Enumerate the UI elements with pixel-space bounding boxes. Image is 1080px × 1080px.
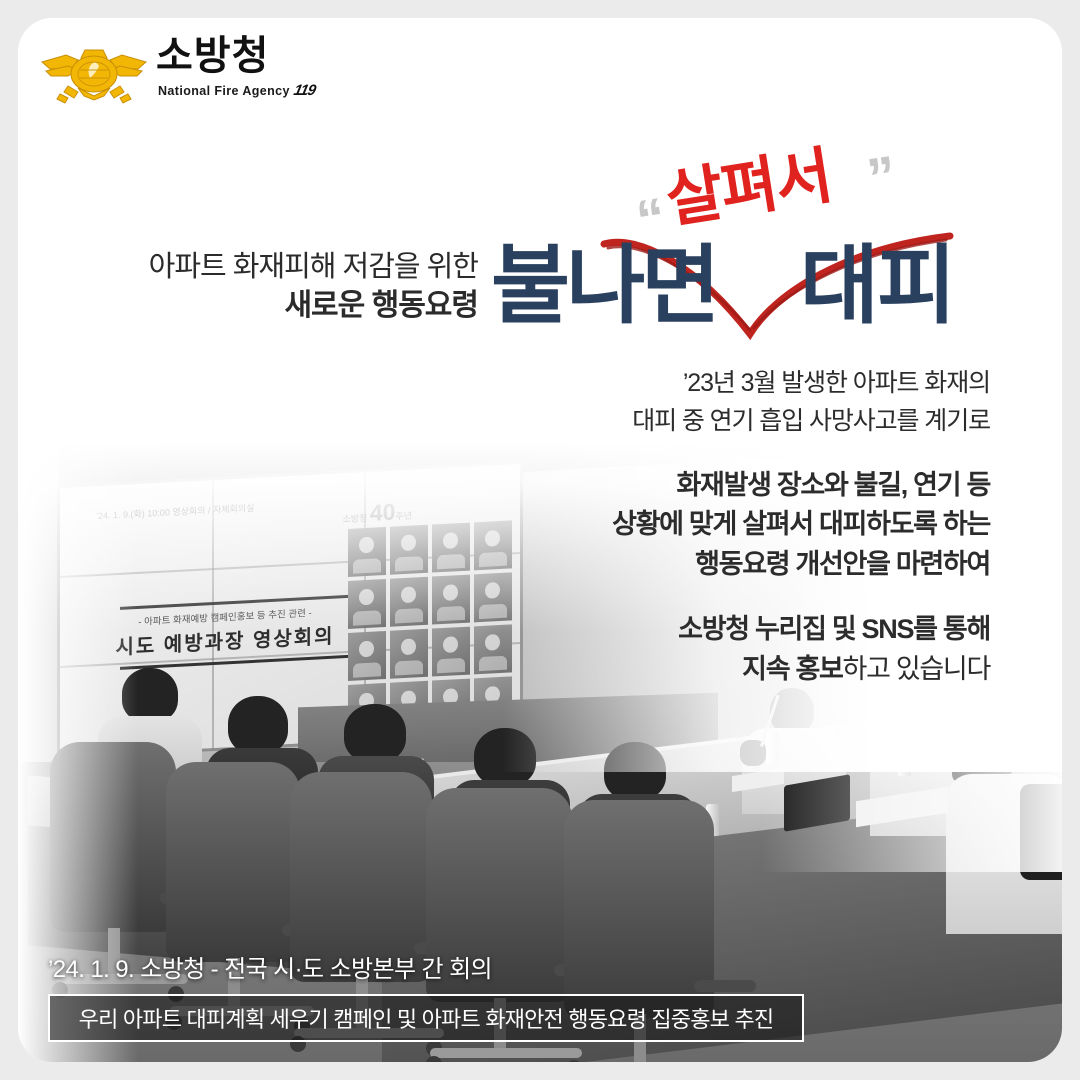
photo-date-caption: ’24. 1. 9. 소방청 - 전국 시·도 소방본부 간 회의: [48, 949, 492, 984]
screen-anniversary-suffix: 주년: [395, 511, 412, 522]
water-bottle: [766, 730, 779, 764]
participant-tile: [348, 631, 386, 681]
body-paragraph-3: 소방청 누리집 및 SNS를 통해 지속 홍보하고 있습니다: [560, 610, 990, 689]
headline-word-bulnamyeon: 불나면: [491, 243, 716, 329]
body-paragraph-1: ’23년 3월 발생한 아파트 화재의 대피 중 연기 흡입 사망사고를 계기로: [560, 364, 990, 440]
headline-lead: 아파트 화재피해 저감을 위한 새로운 행동요령: [118, 248, 478, 326]
headline-lead-line-1: 아파트 화재피해 저감을 위한: [118, 248, 478, 286]
body-line: ’23년 3월 발생한 아파트 화재의: [560, 364, 990, 402]
body-line: 화재발생 장소와 불길, 연기 등: [560, 466, 990, 505]
body-line-final: 지속 홍보하고 있습니다: [560, 650, 990, 689]
campaign-caption-text: 우리 아파트 대피계획 세우기 캠페인 및 아파트 화재안전 행동요령 집중홍보…: [79, 1002, 774, 1034]
body-line: 소방청 누리집 및 SNS를 통해: [560, 610, 990, 649]
quote-close-mark: ”: [864, 147, 900, 207]
body-line: 상황에 맞게 살펴서 대피하도록 하는: [560, 505, 990, 544]
participant-tile: [432, 575, 470, 625]
logo-subtitle-text: National Fire Agency: [158, 84, 290, 98]
participant-tile: [390, 525, 428, 575]
body-copy: ’23년 3월 발생한 아파트 화재의 대피 중 연기 흡입 사망사고를 계기로…: [560, 364, 990, 689]
participant-tile: [390, 629, 428, 679]
participant-tile: [474, 624, 512, 674]
headline-word-daepi: 대피: [800, 243, 954, 329]
screen-anniversary-mark: 소방청 40주년: [342, 498, 412, 529]
participant-tile: [348, 579, 386, 629]
headline-lead-line-2: 새로운 행동요령: [118, 286, 478, 326]
participant-tile: [348, 527, 386, 577]
participant-tile: [474, 520, 512, 570]
participant-tile: [390, 577, 428, 627]
screen-anniversary-number: 40: [370, 498, 396, 525]
participant-tile: [474, 572, 512, 622]
body-paragraph-2: 화재발생 장소와 불길, 연기 등 상황에 맞게 살펴서 대피하도록 하는 행동…: [560, 466, 990, 584]
logo-119-badge: 119: [292, 82, 317, 99]
logo-subtitle: National Fire Agency119: [158, 82, 315, 99]
logo-wordmark: 소방청: [156, 36, 269, 76]
officer-figure: [946, 724, 1062, 924]
national-fire-agency-emblem-icon: [38, 38, 150, 106]
body-line: 행동요령 개선안을 마련하여: [560, 545, 990, 584]
participant-tile: [432, 627, 470, 677]
body-final-thin: 하고 있습니다: [843, 654, 990, 684]
headline-block: 아파트 화재피해 저감을 위한 새로운 행동요령 “ 살펴서 ” 불나면 대피: [18, 148, 1062, 378]
participant-tile: [432, 523, 470, 573]
screen-anniversary-label: 소방청: [342, 513, 367, 524]
headline-word-salpyeoseo: 살펴서: [662, 145, 835, 232]
water-bottle: [898, 742, 911, 776]
agency-logo: 소방청 National Fire Agency119: [38, 30, 278, 116]
campaign-caption-box: 우리 아파트 대피계획 세우기 캠페인 및 아파트 화재안전 행동요령 집중홍보…: [48, 994, 804, 1042]
card-canvas: 소방청 National Fire Agency119 아파트 화재피해 저감을…: [18, 18, 1062, 1062]
body-final-bold: 지속 홍보: [742, 654, 842, 684]
body-line: 대피 중 연기 흡입 사망사고를 계기로: [560, 402, 990, 440]
